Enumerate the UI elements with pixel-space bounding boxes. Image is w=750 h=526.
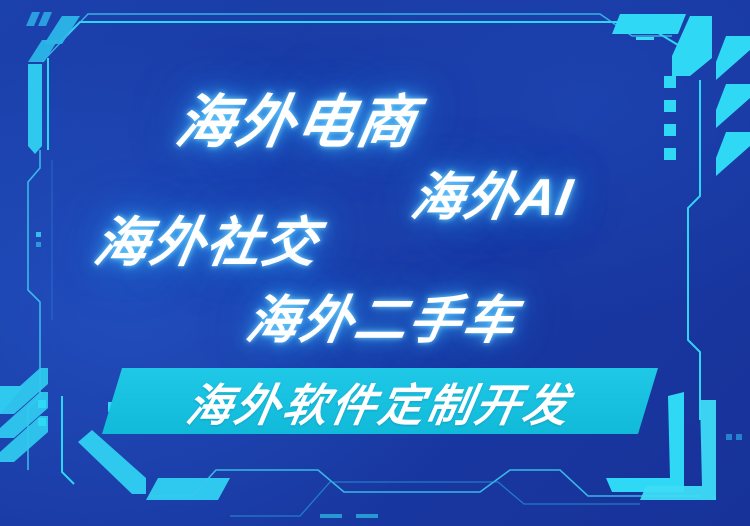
headline-overseas-used-car: 海外二手车 [241,278,524,353]
banner-label: 海外软件定制开发 [96,368,664,434]
headline-overseas-ecommerce: 海外电商 [171,75,426,159]
headline-overseas-ai: 海外AI [406,155,579,230]
headline-text-group: 海外电商 海外AI 海外社交 海外二手车 [0,0,750,526]
poster-canvas: 海外电商 海外AI 海外社交 海外二手车 海外软件定制开发 [0,0,750,526]
headline-overseas-social: 海外社交 [89,198,327,277]
